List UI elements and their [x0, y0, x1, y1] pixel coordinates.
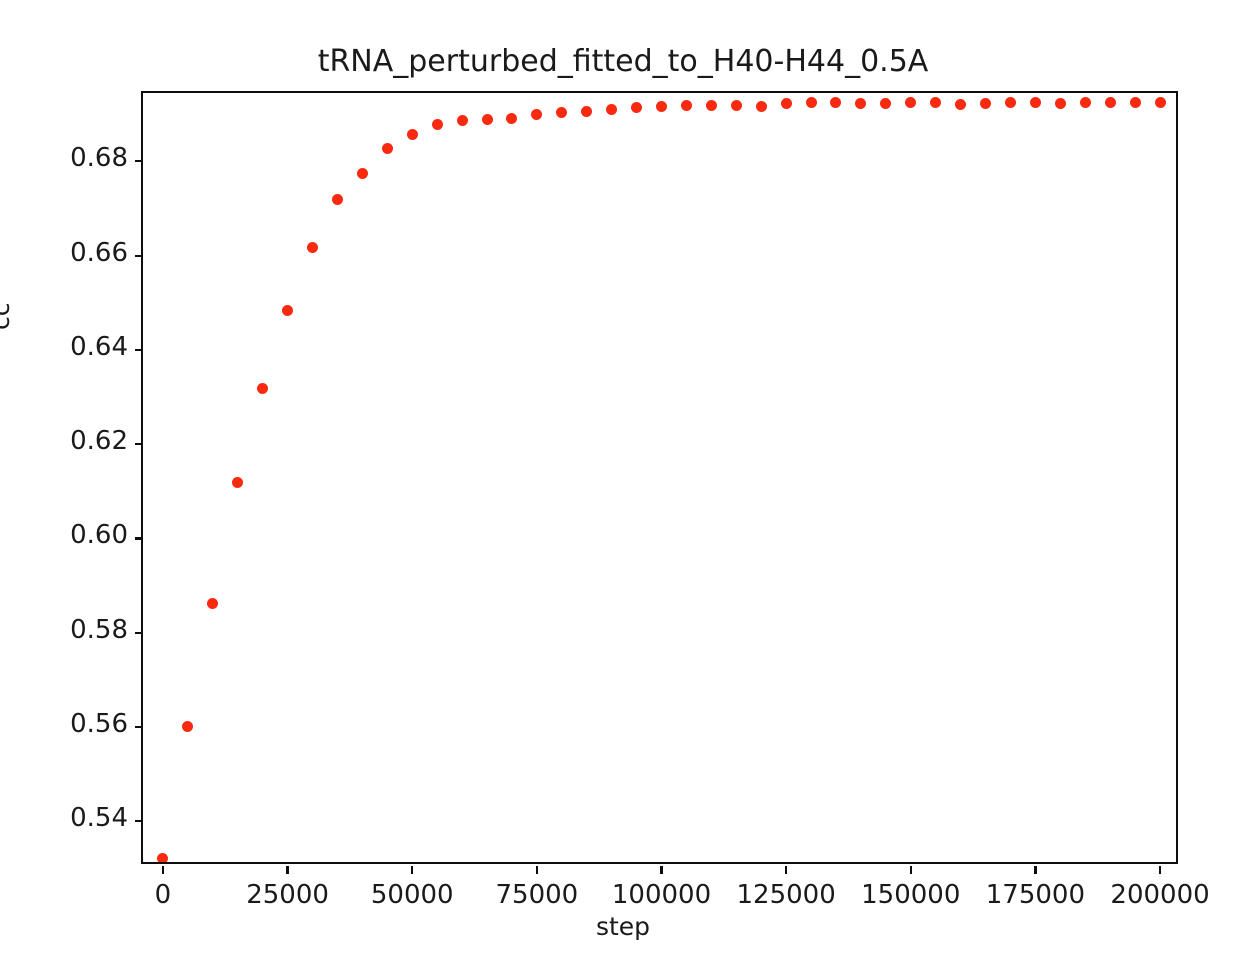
y-tick-mark	[135, 726, 143, 728]
x-tick-mark	[536, 866, 538, 874]
data-point	[1080, 97, 1091, 108]
x-tick-mark	[286, 866, 288, 874]
data-point	[1005, 97, 1016, 108]
y-tick-mark	[135, 632, 143, 634]
data-point	[1030, 97, 1041, 108]
data-point	[880, 98, 891, 109]
data-point	[930, 97, 941, 108]
data-point	[307, 242, 318, 253]
data-point	[457, 115, 468, 126]
y-axis-label: cc	[0, 303, 15, 331]
x-tick-label: 200000	[1070, 880, 1246, 910]
data-point	[182, 721, 193, 732]
data-point	[257, 383, 268, 394]
y-tick-label: 0.56	[18, 709, 128, 739]
x-tick-mark	[660, 866, 662, 874]
plot-area: 0.540.560.580.600.620.640.660.68 0250005…	[141, 91, 1178, 864]
data-point	[357, 168, 368, 179]
chart-title: tRNA_perturbed_fitted_to_H40-H44_0.5A	[0, 44, 1246, 79]
data-point	[756, 101, 767, 112]
data-point	[207, 598, 218, 609]
data-point	[706, 100, 717, 111]
data-point	[830, 97, 841, 108]
data-point	[581, 106, 592, 117]
data-point	[506, 113, 517, 124]
data-point	[1055, 98, 1066, 109]
data-point	[556, 107, 567, 118]
data-point	[232, 477, 243, 488]
x-axis-label: step	[0, 912, 1246, 941]
y-tick-mark	[135, 537, 143, 539]
y-tick-label: 0.60	[18, 520, 128, 550]
scatter-series	[143, 93, 1176, 862]
data-point	[656, 101, 667, 112]
data-point	[806, 97, 817, 108]
data-point	[482, 114, 493, 125]
x-tick-mark	[910, 866, 912, 874]
data-point	[332, 194, 343, 205]
data-point	[282, 305, 293, 316]
data-point	[905, 97, 916, 108]
data-point	[1105, 97, 1116, 108]
data-point	[1130, 97, 1141, 108]
y-tick-mark	[135, 443, 143, 445]
x-tick-mark	[411, 866, 413, 874]
data-point	[631, 102, 642, 113]
x-tick-mark	[162, 866, 164, 874]
x-tick-mark	[1034, 866, 1036, 874]
y-tick-label: 0.62	[18, 426, 128, 456]
data-point	[781, 98, 792, 109]
data-point	[157, 853, 168, 862]
data-point	[731, 100, 742, 111]
data-point	[980, 98, 991, 109]
data-point	[606, 104, 617, 115]
y-tick-mark	[135, 820, 143, 822]
data-point	[382, 143, 393, 154]
y-tick-mark	[135, 349, 143, 351]
y-tick-label: 0.54	[18, 803, 128, 833]
y-tick-label: 0.58	[18, 615, 128, 645]
y-tick-mark	[135, 255, 143, 257]
y-tick-label: 0.68	[18, 143, 128, 173]
y-tick-label: 0.64	[18, 332, 128, 362]
data-point	[432, 119, 443, 130]
chart-figure: tRNA_perturbed_fitted_to_H40-H44_0.5A 0.…	[0, 0, 1246, 965]
data-point	[1155, 97, 1166, 108]
data-point	[531, 109, 542, 120]
data-point	[955, 99, 966, 110]
y-tick-mark	[135, 160, 143, 162]
x-tick-mark	[785, 866, 787, 874]
data-point	[855, 98, 866, 109]
data-point	[407, 129, 418, 140]
x-tick-mark	[1159, 866, 1161, 874]
data-point	[681, 100, 692, 111]
y-tick-label: 0.66	[18, 238, 128, 268]
